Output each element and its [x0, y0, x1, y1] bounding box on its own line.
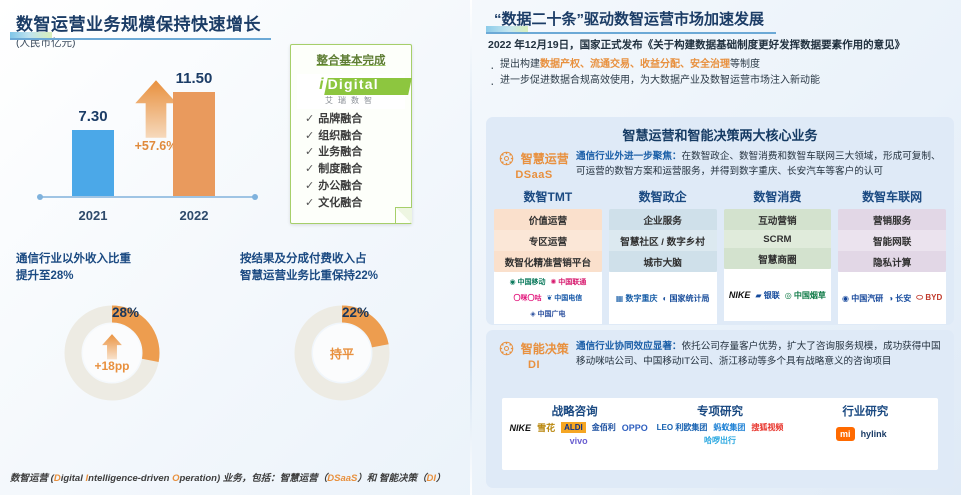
footnote-highlight: DI	[427, 473, 437, 484]
check-icon: ✓	[305, 113, 314, 125]
footnote-text-part: ）和 智能决策（	[357, 473, 426, 484]
bar-rect-2021	[72, 130, 114, 196]
tag[interactable]: 互动营销	[724, 209, 832, 230]
bar-2021: 7.30 2021	[72, 130, 114, 196]
tag[interactable]: 专区运营	[494, 230, 602, 251]
card-title: 智慧运营和智能决策两大核心业务	[486, 117, 954, 144]
client-logo-box: ◉ 中国移动 ✺ 中国联通 〇咪〇咕 ❦ 中国电信 ◈ 中国广电	[494, 272, 602, 324]
title-underline-solid	[10, 38, 271, 40]
client-logo-changan: ◑ 长安	[888, 293, 911, 304]
note-item-text: 文化融合	[318, 197, 362, 209]
left-panel: 数智运营业务规模保持快速增长 (人民币亿元) +57.6% 7.30 2021	[0, 0, 470, 495]
tag-group: 企业服务 智慧社区 / 数字乡村 城市大脑	[609, 209, 717, 272]
integration-note-card: 整合基本完成 iDigital 艾瑞数智 ✓品牌融合 ✓组织融合 ✓业务融合 ✓…	[290, 44, 412, 224]
column-title: 数智政企	[609, 188, 717, 205]
check-icon: ✓	[305, 180, 314, 192]
left-title-text: 数智运营业务规模保持快速增长	[16, 10, 261, 35]
di-label: 智能决策 DI	[492, 340, 576, 371]
tag-group: 营销服务 智能网联 隐私计算	[838, 209, 946, 272]
dsaas-label: 智慧运营 DSaaS	[492, 150, 576, 181]
right-title-underline-solid	[486, 32, 776, 34]
left-page-title: 数智运营业务规模保持快速增长	[10, 8, 271, 38]
dsaas-abbr: DSaaS	[492, 169, 576, 181]
logo-cell-industry-research: mi hylink	[791, 427, 932, 441]
caption-line: 按结果及分成付费收入占	[240, 251, 378, 268]
list-item: ✓文化融合	[305, 195, 411, 212]
column-title: 数智车联网	[838, 188, 946, 205]
list-item: ✓业务融合	[305, 144, 411, 161]
logo-hylink: hylink	[861, 429, 887, 439]
note-item-text: 办公融合	[318, 180, 362, 192]
tag[interactable]: 营销服务	[838, 209, 946, 230]
integration-list: ✓品牌融合 ✓组织融合 ✓业务融合 ✓制度融合 ✓办公融合 ✓文化融合	[305, 111, 411, 211]
bar-category-2022: 2022	[180, 208, 209, 223]
logo-group-title: 专项研究	[647, 403, 792, 419]
tag[interactable]: 智慧商圈	[724, 248, 832, 269]
caption-line: 智慧运营业务比重保持22%	[240, 268, 378, 285]
logo-group-bodies: NIKE 雪花 ALDI 金佰利 OPPO vivo LEO 利欧集团 蚂蚁集团…	[502, 419, 938, 446]
logo-oppo: OPPO	[622, 423, 648, 433]
client-logo-china-broadnet: ◈ 中国广电	[530, 309, 565, 319]
list-item: ✓办公融合	[305, 178, 411, 195]
tag[interactable]: 城市大脑	[609, 251, 717, 272]
client-logo-digital-chongqing: ▦ 数字重庆	[616, 293, 658, 304]
check-icon: ✓	[305, 146, 314, 158]
list-item: ✓品牌融合	[305, 111, 411, 128]
right-title-text: “数据二十条”驱动数智运营市场加速发展	[494, 8, 764, 29]
footnote-text-part: ntelligence-driven	[88, 473, 172, 484]
tag[interactable]: 数智化精准营销平台	[494, 251, 602, 272]
di-header-row: 智能决策 DI 通信行业协同效应显著：依托公司存量客户优势，扩大了咨询服务规模，…	[492, 340, 946, 371]
logo-hellobike: 哈啰出行	[704, 435, 736, 446]
logo-group-titles: 战略咨询 专项研究 行业研究	[502, 398, 938, 419]
gear-icon	[499, 341, 514, 356]
check-icon: ✓	[305, 130, 314, 142]
di-abbr: DI	[492, 359, 576, 371]
client-logo-china-mobile: ◉ 中国移动	[509, 277, 545, 287]
tag[interactable]: 智能网联	[838, 230, 946, 251]
panel-divider	[470, 0, 472, 495]
donut-1-percent: 28%	[112, 303, 139, 323]
dsaas-description: 通信行业外进一步聚焦：在数智政企、数智消费和数智车联网三大领域，形成可复制、可运…	[576, 150, 946, 181]
client-logo-box: ▦ 数字重庆 ◐ 国家统计局	[609, 272, 717, 324]
footnote-text-part: igital	[61, 473, 86, 484]
policy-block: 2022 年12月19日，国家正式发布《关于构建数据基础制度更好发挥数据要素作用…	[488, 38, 949, 89]
client-logo-china-tobacco: ◎ 中国烟草	[785, 290, 826, 301]
bar-category-2021: 2021	[79, 208, 108, 223]
logo-group-title: 战略咨询	[502, 403, 647, 419]
caption-line: 通信行业以外收入比重	[16, 251, 131, 268]
tag[interactable]: 价值运营	[494, 209, 602, 230]
column-tmt[interactable]: 数智TMT 价值运营 专区运营 数智化精准营销平台 ◉ 中国移动 ✺ 中国联通 …	[494, 188, 602, 324]
logo-ant-group: 蚂蚁集团	[713, 422, 745, 433]
policy-lead-text: 2022 年12月19日，国家正式发布《关于构建数据基础制度更好发挥数据要素作用…	[488, 38, 949, 54]
dsaas-header-row: 智慧运营 DSaaS 通信行业外进一步聚焦：在数智政企、数智消费和数智车联网三大…	[492, 150, 946, 181]
caption-line: 提升至28%	[16, 268, 131, 285]
tag-group: 互动营销 SCRM 智慧商圈	[724, 209, 832, 269]
logo-kimberly-clark: 金佰利	[592, 422, 616, 433]
bullet1-post: 等制度	[730, 59, 760, 70]
client-logo-china-unicom: ✺ 中国联通	[551, 277, 587, 287]
client-logo-unionpay: ▰ 银联	[755, 290, 779, 301]
bar-rect-2022	[173, 92, 215, 196]
column-government[interactable]: 数智政企 企业服务 智慧社区 / 数字乡村 城市大脑 ▦ 数字重庆 ◐ 国家统计…	[609, 188, 717, 324]
dsaas-desc-highlight: 通信行业外进一步聚焦：	[576, 151, 682, 162]
chart-axis-line	[40, 196, 255, 198]
di-card: 智能决策 DI 通信行业协同效应显著：依托公司存量客户优势，扩大了咨询服务规模，…	[486, 330, 954, 488]
logo-sohu-video: 搜狐视频	[751, 422, 783, 433]
logo-xiaomi: mi	[836, 427, 855, 441]
footnote-highlight: DSaaS	[327, 473, 357, 484]
logo-i-letter: i	[319, 76, 323, 93]
column-iov[interactable]: 数智车联网 营销服务 智能网联 隐私计算 ◉ 中国汽研 ◑ 长安 ⬭ BYD	[838, 188, 946, 324]
client-logo-byd: ⬭ BYD	[916, 293, 942, 303]
tag[interactable]: 智慧社区 / 数字乡村	[609, 230, 717, 251]
donut-2-caption: 按结果及分成付费收入占智慧运营业务比重保持22%	[240, 251, 378, 284]
logo-cell-strategy: NIKE 雪花 ALDI 金佰利 OPPO vivo	[508, 421, 649, 446]
note-item-text: 组织融合	[318, 130, 362, 142]
footnote-text-part: 数智运营 (	[10, 473, 54, 484]
column-title: 数智TMT	[494, 188, 602, 205]
tag[interactable]: 企业服务	[609, 209, 717, 230]
note-item-text: 业务融合	[318, 146, 362, 158]
donut-1-caption: 通信行业以外收入比重提升至28%	[16, 251, 131, 284]
right-panel: “数据二十条”驱动数智运营市场加速发展 2022 年12月19日，国家正式发布《…	[478, 0, 961, 495]
slide-root: 数智运营业务规模保持快速增长 (人民币亿元) +57.6% 7.30 2021	[0, 0, 961, 495]
logo-aldi: ALDI	[561, 422, 586, 433]
di-description: 通信行业协同效应显著：依托公司存量客户优势，扩大了咨询服务规模，成功获得中国移动…	[576, 340, 946, 371]
note-item-text: 制度融合	[318, 163, 362, 175]
business-columns: 数智TMT 价值运营 专区运营 数智化精准营销平台 ◉ 中国移动 ✺ 中国联通 …	[494, 188, 946, 324]
tag-group: 价值运营 专区运营 数智化精准营销平台	[494, 209, 602, 272]
donut-2-percent: 22%	[342, 303, 369, 323]
gear-icon	[499, 151, 514, 166]
logo-snow-beer: 雪花	[537, 421, 555, 434]
client-logo-caeri: ◉ 中国汽研	[842, 293, 883, 304]
logo-chinese-name: 艾瑞数智	[297, 95, 405, 106]
column-title: 数智消费	[724, 188, 832, 205]
client-logo-box: ◉ 中国汽研 ◑ 长安 ⬭ BYD	[838, 272, 946, 324]
dsaas-card: 智慧运营和智能决策两大核心业务 智慧运营 DSaaS	[486, 117, 954, 325]
policy-bullet-1: 提出构建数据产权、流通交易、收益分配、安全治理等制度	[488, 57, 949, 73]
di-name: 智能决策	[521, 340, 569, 357]
footnote-highlight: D	[54, 473, 61, 484]
client-logo-nike: NIKE	[729, 290, 751, 300]
logo-leo-group: LEO 利欧集团	[657, 422, 708, 433]
di-desc-highlight: 通信行业协同效应显著：	[576, 341, 682, 352]
di-logo-strip: 战略咨询 专项研究 行业研究 NIKE 雪花 ALDI 金佰利 OPPO viv…	[502, 398, 938, 470]
right-page-title: “数据二十条”驱动数智运营市场加速发展	[486, 6, 776, 32]
bar-value-2022: 11.50	[176, 70, 213, 87]
column-consumer[interactable]: 数智消费 互动营销 SCRM 智慧商圈 NIKE ▰ 银联 ◎ 中国烟草	[724, 188, 832, 324]
client-logo-migu: 〇咪〇咕	[513, 293, 541, 303]
footnote-text: 数智运营 (Digital Intelligence-driven Operat…	[10, 470, 446, 484]
client-logo-china-telecom: ❦ 中国电信	[546, 293, 582, 303]
policy-bullets: 提出构建数据产权、流通交易、收益分配、安全治理等制度 进一步促进数据合规高效使用…	[488, 57, 949, 89]
list-item: ✓组织融合	[305, 128, 411, 145]
bullet1-pre: 提出构建	[500, 59, 540, 70]
tag[interactable]: SCRM	[724, 230, 832, 248]
revenue-bar-chart: +57.6% 7.30 2021 11.50 2022	[30, 58, 270, 228]
note-item-text: 品牌融合	[318, 113, 362, 125]
check-icon: ✓	[305, 197, 314, 209]
check-icon: ✓	[305, 163, 314, 175]
client-logo-stats-bureau: ◐ 国家统计局	[662, 293, 709, 304]
client-logo-box: NIKE ▰ 银联 ◎ 中国烟草	[724, 269, 832, 321]
idigital-logo: iDigital 艾瑞数智	[297, 74, 405, 109]
footnote-text-part: peration) 业务，包括：智慧运营（	[179, 473, 327, 484]
logo-nike: NIKE	[510, 423, 532, 433]
bar-2022: 11.50 2022	[173, 92, 215, 196]
bar-value-2021: 7.30	[78, 108, 107, 125]
logo-cell-special-research: LEO 利欧集团 蚂蚁集团 搜狐视频 哈啰出行	[649, 422, 790, 446]
footnote-text-part: ）	[436, 473, 446, 484]
list-item: ✓制度融合	[305, 161, 411, 178]
policy-bullet-2: 进一步促进数据合规高效使用，为大数据产业及数智运营市场注入新动能	[488, 73, 949, 89]
bullet1-highlight: 数据产权、流通交易、收益分配、安全治理	[540, 59, 730, 70]
note-title: 整合基本完成	[291, 52, 411, 68]
tag[interactable]: 隐私计算	[838, 251, 946, 272]
dsaas-name: 智慧运营	[521, 150, 569, 167]
donut-section: 通信行业以外收入比重提升至28% 按结果及分成付费收入占智慧运营业务比重保持22…	[0, 245, 470, 460]
logo-word: Digital	[324, 76, 383, 92]
logo-group-title: 行业研究	[793, 403, 938, 419]
logo-vivo: vivo	[570, 436, 588, 446]
